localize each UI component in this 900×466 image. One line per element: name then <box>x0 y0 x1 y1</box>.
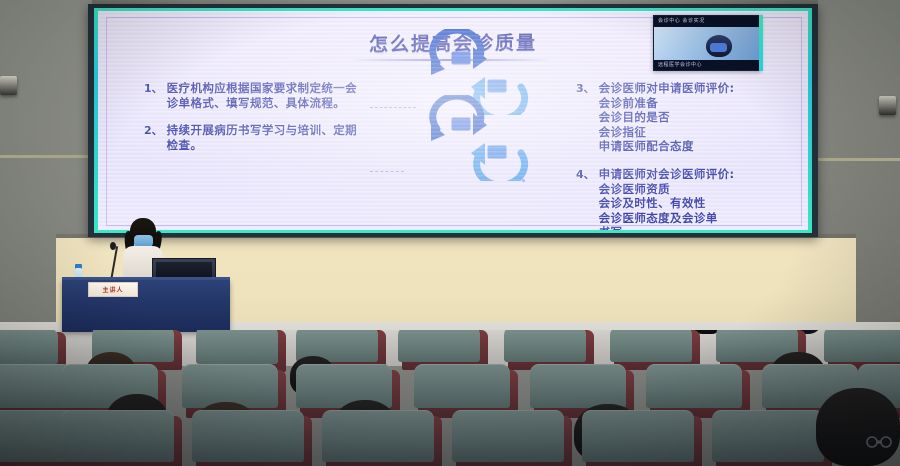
bullet-3-sub-4: 申请医师配合态度 <box>599 139 735 154</box>
bowtie-watermark-icon <box>866 436 892 448</box>
cycle-arrow-4-icon <box>465 123 529 181</box>
bullet-4-body: 申请医师对会诊医师评价: 会诊医师资质 会诊及时性、有效性 会诊医师态度及会诊单… <box>599 167 735 230</box>
seat-back <box>646 364 742 408</box>
seat-back <box>530 364 626 408</box>
nameplate-text: 主讲人 <box>102 285 123 294</box>
wall-seam-left <box>0 155 92 158</box>
screenshot-root: 怎么提高会诊质量 1、 医疗机构应根据国家要求制定统一会诊单格式、填写规范、具体… <box>0 0 900 466</box>
seat-back <box>322 410 434 462</box>
bullet-3-sub-1: 会诊前准备 <box>599 96 735 111</box>
seat-back <box>62 410 174 462</box>
audience-head <box>816 388 900 466</box>
bullet-3-heading: 会诊医师对申请医师评价: <box>599 81 735 96</box>
pip-video-feed <box>654 27 760 60</box>
nameplate: 主讲人 <box>88 282 138 297</box>
bullet-2-number: 2、 <box>144 123 163 138</box>
slide-bullet-1: 1、 医疗机构应根据国家要求制定统一会诊单格式、填写规范、具体流程。 <box>144 81 359 110</box>
seat-back <box>414 364 510 408</box>
bullet-1-number: 1、 <box>144 81 163 96</box>
slide-bullet-2: 2、 持续开展病历书写学习与培训、定期检查。 <box>144 123 359 152</box>
seat-back <box>712 410 824 462</box>
seat-back <box>0 330 58 364</box>
slide-dot-2 <box>522 179 525 182</box>
slide-left-column: 1、 医疗机构应根据国家要求制定统一会诊单格式、填写规范、具体流程。 2、 持续… <box>144 81 359 165</box>
audience-seating <box>0 330 900 466</box>
bullet-3-sub-2: 会诊目的是否 <box>599 110 735 125</box>
bullet-4-sub-4: 书写 <box>599 225 735 230</box>
bullet-2-text: 持续开展病历书写学习与培训、定期检查。 <box>167 123 359 152</box>
bullet-3-sub-3: 会诊指征 <box>599 125 735 140</box>
seat-back <box>582 410 694 462</box>
corner-video-monitor: 会诊中心 会诊实况 远程医学会诊中心 <box>653 15 761 71</box>
slide-bullet-3: 3、 会诊医师对申请医师评价: 会诊前准备 会诊目的是否 会诊指征 申请医师配合… <box>576 81 806 154</box>
bullet-4-sub-1: 会诊医师资质 <box>599 182 735 197</box>
seat-back <box>452 410 564 462</box>
connector-dash-1 <box>370 107 416 109</box>
seat-back <box>610 330 692 362</box>
wall-seam-right <box>818 158 900 161</box>
slide-right-column: 3、 会诊医师对申请医师评价: 会诊前准备 会诊目的是否 会诊指征 申请医师配合… <box>576 81 806 230</box>
bullet-4-sub-3: 会诊医师态度及会诊单 <box>599 211 735 226</box>
cycle-diagram <box>423 19 563 219</box>
seat-back <box>192 410 304 462</box>
slide-bullet-4: 4、 申请医师对会诊医师评价: 会诊医师资质 会诊及时性、有效性 会诊医师态度及… <box>576 167 806 230</box>
seat-back <box>824 330 900 362</box>
cycle-icon-4 <box>488 146 507 159</box>
seat-back <box>196 330 278 364</box>
bullet-1-text: 医疗机构应根据国家要求制定统一会诊单格式、填写规范、具体流程。 <box>167 81 359 110</box>
connector-dash-2 <box>370 171 404 173</box>
pip-title-bar: 会诊中心 会诊实况 <box>654 16 760 27</box>
bullet-4-sub-2: 会诊及时性、有效性 <box>599 196 735 211</box>
wall-speaker-left-icon <box>0 76 17 95</box>
bullet-3-number: 3、 <box>576 81 595 96</box>
pip-footer-bar: 远程医学会诊中心 <box>654 60 760 70</box>
bullet-3-body: 会诊医师对申请医师评价: 会诊前准备 会诊目的是否 会诊指征 申请医师配合态度 <box>599 81 735 154</box>
cycle-icon-2 <box>488 80 507 93</box>
projection-screen-surface: 怎么提高会诊质量 1、 医疗机构应根据国家要求制定统一会诊单格式、填写规范、具体… <box>98 11 808 230</box>
seat-back <box>504 330 586 362</box>
pip-led-strip <box>759 15 763 71</box>
seat-back <box>398 330 480 362</box>
bullet-4-heading: 申请医师对会诊医师评价: <box>599 167 735 182</box>
bullet-4-number: 4、 <box>576 167 595 182</box>
pip-person-mask <box>710 43 727 52</box>
slide-dot-1 <box>522 109 525 112</box>
wall-speaker-right-icon <box>879 96 896 115</box>
